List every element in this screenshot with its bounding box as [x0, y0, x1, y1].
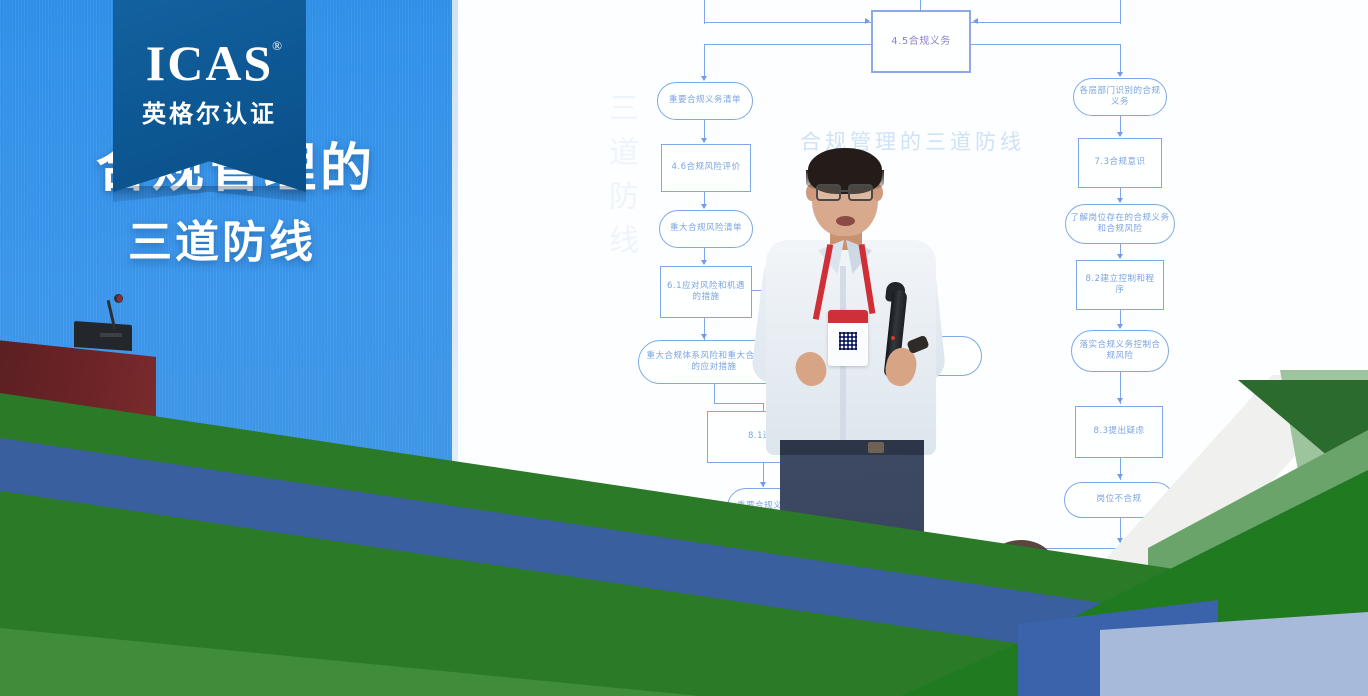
flow-node-left-1: 4.6合规风险评价	[661, 144, 751, 192]
registered-trademark-icon: ®	[272, 38, 282, 54]
arrow-icon	[1117, 254, 1123, 259]
connector	[704, 0, 705, 24]
arrow-icon	[1117, 198, 1123, 203]
flow-node-left-3: 6.1应对风险和机遇的措施	[660, 266, 752, 318]
arrow-icon	[1117, 132, 1123, 137]
connector	[704, 44, 705, 80]
connector	[714, 384, 715, 404]
flow-node-right-5: 8.3提出疑虑	[1075, 406, 1163, 458]
flow-node-right-0: 各层部门识别的合规义务	[1073, 78, 1167, 116]
arrow-icon	[865, 18, 870, 24]
flow-node-right-2: 了解岗位存在的合规义务和合规风险	[1065, 204, 1175, 244]
qr-code-icon	[839, 332, 857, 350]
arrow-icon	[701, 204, 707, 209]
flow-node-left-0: 重要合规义务清单	[657, 82, 753, 120]
arrow-icon	[701, 138, 707, 143]
speaker-mouth	[836, 216, 855, 226]
podium-grille	[100, 333, 122, 337]
arrow-icon	[1117, 474, 1123, 479]
mic-led-icon	[891, 336, 895, 340]
screenshot-canvas: 三道防线 合规管理的三道防线 4.5合规义务 重要合规义务清单 4.6合规风险评…	[0, 0, 1368, 696]
connector	[971, 44, 1121, 45]
arrow-icon	[973, 18, 978, 24]
connector	[1120, 0, 1121, 24]
arrow-icon	[701, 334, 707, 339]
connector	[704, 44, 872, 45]
flow-node-center: 4.5合规义务	[871, 10, 971, 73]
connector	[971, 22, 1121, 23]
arrow-icon	[1117, 398, 1123, 403]
flow-node-left-2: 重大合规风险清单	[659, 210, 753, 248]
speaker-belt-buckle	[868, 442, 884, 453]
glasses-bridge-icon	[841, 190, 848, 192]
connector	[714, 403, 764, 404]
flow-node-right-1: 7.3合规意识	[1078, 138, 1162, 188]
connector	[704, 22, 872, 23]
arrow-icon	[1117, 72, 1123, 77]
speaker-belt	[780, 440, 924, 455]
flow-node-right-4: 落实合规义务控制合规风险	[1071, 330, 1169, 372]
badge-header	[828, 310, 868, 323]
arrow-icon	[1117, 324, 1123, 329]
icas-chinese-name: 英格尔认证	[113, 94, 306, 129]
arrow-icon	[701, 260, 707, 265]
wall-title-line2: 三道防线	[128, 206, 316, 270]
glasses-lens-left-icon	[816, 184, 841, 201]
glasses-lens-right-icon	[848, 184, 873, 201]
name-badge	[828, 310, 868, 366]
flow-node-right-3: 8.2建立控制和程序	[1076, 260, 1164, 310]
arrow-icon	[701, 76, 707, 81]
connector	[920, 0, 921, 12]
podium-mic-head	[114, 294, 123, 303]
